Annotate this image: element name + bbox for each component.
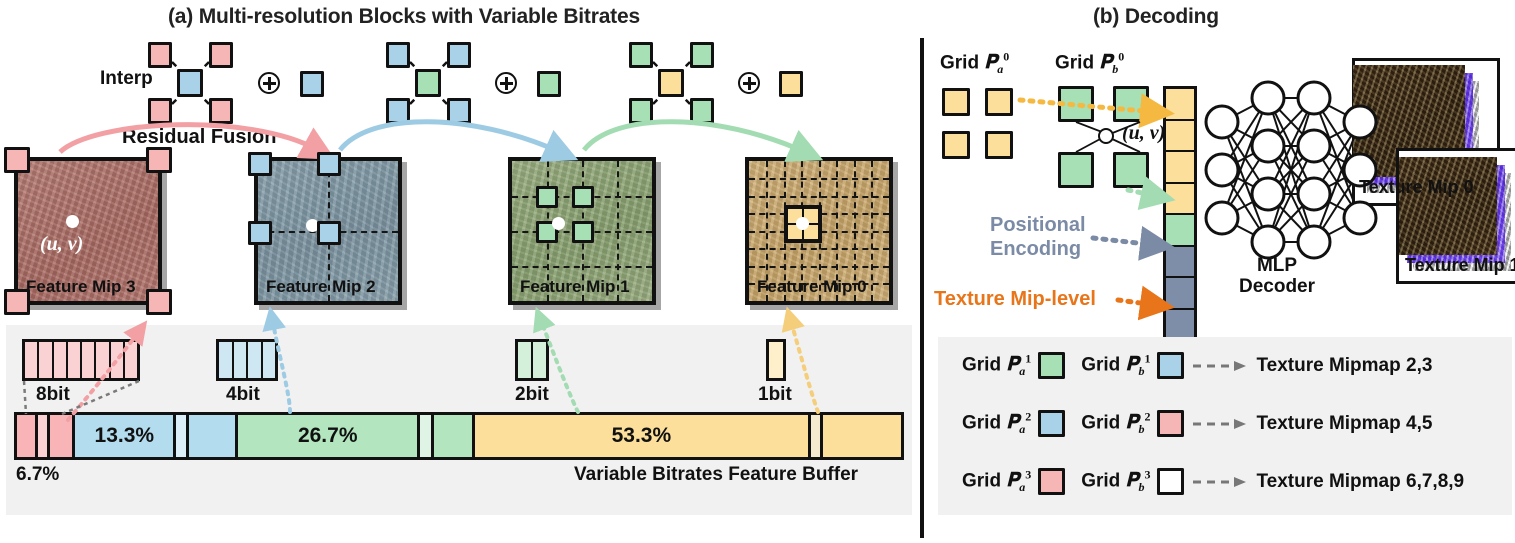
mlp-edge: [1268, 98, 1314, 146]
buffer-segment: [38, 415, 50, 457]
texture-card-label: Texture Mip 0: [1359, 177, 1474, 198]
legend-row: Grid 𝐏a3 Grid 𝐏b3 Texture Mipmap 6,7,8,9: [962, 468, 1464, 495]
interp-center: [177, 69, 203, 97]
mlp-edge: [1222, 146, 1268, 218]
interp-addend: [779, 71, 803, 97]
uv-sample-point: [1098, 128, 1114, 144]
mlp-node: [1252, 82, 1284, 114]
texture-mip-level-label: Texture Mip-level: [934, 288, 1096, 311]
mlp-node: [1252, 178, 1284, 210]
buffer-first-pct-label: 6.7%: [16, 464, 59, 486]
bit-label-1bit: 1bit: [758, 384, 792, 406]
legend-swatch-a: [1038, 410, 1065, 437]
legend-grid-a-label: Grid 𝐏a3: [962, 468, 1031, 495]
uv-dot: [66, 215, 79, 228]
buffer-segment: [811, 415, 823, 457]
variable-bitrates-buffer-bar: 13.3%26.7%53.3%: [14, 412, 904, 460]
buffer-segment: [434, 415, 474, 457]
mip1-node-tl: [536, 186, 558, 208]
grid-symbol: 𝐏b0: [1099, 52, 1124, 73]
panel-b-title: (b) Decoding: [1093, 5, 1219, 29]
interp-corner-br: [690, 98, 714, 124]
mlp-node: [1206, 202, 1238, 234]
mip3-corner-bl: [4, 289, 30, 315]
uv-label: (u, v): [40, 233, 83, 256]
mip-gridline: [749, 266, 889, 268]
mlp-edge: [1268, 146, 1314, 194]
mlp-edge: [1268, 98, 1314, 146]
interp-corner-tl: [148, 42, 172, 68]
panel-divider: [920, 38, 924, 538]
uv-dot: [796, 217, 809, 230]
mlp-edge: [1222, 122, 1268, 146]
positional-encoding-label: Positional Encoding: [990, 214, 1086, 261]
mlp-line1: MLP: [1222, 255, 1332, 276]
bit-group-4bit: [216, 339, 278, 381]
residual-fusion-label: Residual Fusion: [122, 126, 276, 149]
feature-vector-cell: [1166, 184, 1194, 216]
mlp-node: [1252, 226, 1284, 258]
mip1-node-tr: [572, 186, 594, 208]
grid-b-cell: [1058, 152, 1094, 188]
grid-zb0-label: Grid 𝐏b0: [1055, 50, 1124, 77]
feature-vector-cell: [1166, 152, 1194, 184]
interp-corner-bl: [148, 98, 172, 124]
uv-dot: [552, 217, 565, 230]
mlp-edge: [1268, 146, 1314, 242]
bit-label-8bit: 8bit: [36, 384, 70, 406]
grid-a-cell: [942, 131, 970, 159]
mlp-edge: [1222, 218, 1268, 242]
texture-albedo-layer: [1399, 157, 1497, 255]
legend-row: Grid 𝐏a1 Grid 𝐏b1 Texture Mipmap 2,3: [962, 352, 1432, 379]
mip-label: Feature Mip 1: [520, 277, 630, 297]
mip-gridline: [512, 266, 652, 268]
grid-b-cell: [1113, 86, 1149, 122]
legend-swatch-a: [1038, 468, 1065, 495]
interp-corner-br: [447, 98, 471, 124]
bit-group-8bit: [22, 339, 140, 381]
mlp-edge: [1222, 194, 1268, 218]
legend-swatch-b: [1157, 468, 1184, 495]
mlp-line2: Decoder: [1222, 276, 1332, 297]
mip2-node-tl: [248, 152, 272, 176]
legend-grid-b-label: Grid 𝐏b2: [1081, 410, 1150, 437]
mlp-edge: [1268, 146, 1314, 242]
mlp-edge: [1222, 98, 1268, 218]
grid-za0-label: Grid 𝐏a0: [940, 50, 1009, 77]
mlp-edge: [1268, 194, 1314, 242]
plus-icon: [738, 72, 760, 94]
legend-swatch-b: [1157, 352, 1184, 379]
buffer-caption: Variable Bitrates Feature Buffer: [574, 464, 858, 486]
mlp-edge: [1268, 98, 1314, 194]
plus-icon: [495, 72, 517, 94]
mlp-node: [1298, 82, 1330, 114]
interp-center: [658, 69, 684, 97]
interp-corner-bl: [386, 98, 410, 124]
mlp-node: [1206, 106, 1238, 138]
plus-icon: [258, 72, 280, 94]
mlp-node: [1252, 130, 1284, 162]
buffer-segment-labeled: 53.3%: [475, 415, 812, 457]
grid-label-text: Grid: [1055, 52, 1094, 73]
legend-grid-b-label: Grid 𝐏b1: [1081, 352, 1150, 379]
interp-center: [415, 69, 441, 97]
texture-card-mip1: Texture Mip 1: [1396, 148, 1515, 284]
grid-label-text: Grid: [940, 52, 979, 73]
legend-swatch-a: [1038, 352, 1065, 379]
mip1-node-br: [572, 221, 594, 243]
mlp-node: [1344, 202, 1376, 234]
grid-b-cell: [1058, 86, 1094, 122]
mlp-node: [1298, 226, 1330, 258]
mip2-node-bl: [248, 221, 272, 245]
feature-mip-0: Feature Mip 0: [745, 157, 893, 305]
feature-mip-1: Feature Mip 1: [508, 157, 656, 305]
feature-vector-cell: [1166, 247, 1194, 279]
bit-group-2bit: [515, 339, 549, 381]
bit-group-1bit: [766, 339, 786, 381]
bit-label-2bit: 2bit: [515, 384, 549, 406]
legend-target-label: Texture Mipmap 2,3: [1256, 355, 1432, 377]
interp-addend: [537, 71, 561, 97]
interp-corner-tr: [209, 42, 233, 68]
bit-label-4bit: 4bit: [226, 384, 260, 406]
interp-corner-tl: [629, 42, 653, 68]
mip3-corner-tl: [4, 147, 30, 173]
interp-corner-br: [209, 98, 233, 124]
feature-mip-3: (u, v) Feature Mip 3: [14, 157, 162, 305]
mip-label: Feature Mip 3: [26, 277, 136, 297]
grid-a-cell: [985, 88, 1013, 116]
mip3-corner-tr: [146, 147, 172, 173]
interp-addend: [300, 71, 324, 97]
feature-vector-cell: [1166, 278, 1194, 310]
mip-gridline: [749, 248, 889, 250]
buffer-segment: [50, 415, 75, 457]
mip3-corner-br: [146, 289, 172, 315]
mlp-edge: [1268, 146, 1314, 194]
mlp-edge: [1268, 98, 1314, 242]
mlp-edge: [1222, 122, 1268, 242]
feature-vector-cell: [1166, 215, 1194, 247]
mlp-node: [1298, 130, 1330, 162]
mlp-decoder-label: MLP Decoder: [1222, 255, 1332, 298]
legend-grid-a-label: Grid 𝐏a1: [962, 352, 1031, 379]
mip-label: Feature Mip 2: [266, 277, 376, 297]
grid-a-cell: [942, 88, 970, 116]
mip-label: Feature Mip 0: [757, 277, 867, 297]
panel-a-title: (a) Multi-resolution Blocks with Variabl…: [168, 5, 640, 29]
texture-card-label: Texture Mip 1: [1405, 255, 1515, 276]
mlp-edge: [1222, 170, 1268, 242]
feature-vector-cell: [1166, 89, 1194, 121]
mlp-edge: [1268, 194, 1314, 242]
pe-line1: Positional: [990, 214, 1086, 238]
interp-corner-tr: [447, 42, 471, 68]
mlp-node: [1206, 154, 1238, 186]
legend-grid-a-label: Grid 𝐏a2: [962, 410, 1031, 437]
mlp-edge: [1268, 98, 1314, 194]
feature-vector: [1163, 86, 1197, 374]
pe-line2: Encoding: [990, 238, 1086, 262]
dashed-arrow-icon: [1192, 359, 1248, 373]
legend-row: Grid 𝐏a2 Grid 𝐏b2 Texture Mipmap 4,5: [962, 410, 1432, 437]
interp-corner-tl: [386, 42, 410, 68]
buffer-segment-labeled: 13.3%: [75, 415, 176, 457]
buffer-segment: [420, 415, 434, 457]
grid-b-cell: [1113, 152, 1149, 188]
interp-corner-tr: [690, 42, 714, 68]
buffer-segment: [17, 415, 38, 457]
dashed-arrow-icon: [1192, 475, 1248, 489]
mlp-edge: [1222, 122, 1268, 194]
grid-symbol: 𝐏a0: [984, 52, 1009, 73]
mip2-node-br: [317, 221, 341, 245]
dashed-arrow-icon: [1192, 417, 1248, 431]
buffer-segment: [823, 415, 901, 457]
mlp-edge: [1314, 218, 1360, 242]
mlp-edge: [1222, 98, 1268, 170]
mip2-node-tr: [317, 152, 341, 176]
mlp-edge: [1222, 146, 1268, 170]
uv-label-panel-b: (u, v): [1122, 122, 1165, 145]
mlp-edge: [1222, 170, 1268, 194]
mlp-edge: [1222, 98, 1268, 122]
buffer-segment: [176, 415, 188, 457]
mlp-node: [1298, 178, 1330, 210]
interp-corner-bl: [629, 98, 653, 124]
buffer-segment: [189, 415, 239, 457]
feature-vector-cell: [1166, 121, 1194, 153]
mlp-edge: [1268, 98, 1314, 242]
grid-a-cell: [985, 131, 1013, 159]
mip-gridline: [749, 196, 889, 198]
figure-root: (a) Multi-resolution Blocks with Variabl…: [0, 0, 1515, 543]
legend-target-label: Texture Mipmap 6,7,8,9: [1256, 471, 1464, 493]
legend-grid-b-label: Grid 𝐏b3: [1081, 468, 1150, 495]
interp-label: Interp: [100, 68, 153, 90]
legend-target-label: Texture Mipmap 4,5: [1256, 413, 1432, 435]
mip-gridline: [749, 178, 889, 180]
buffer-segment-labeled: 26.7%: [238, 415, 420, 457]
legend-swatch-b: [1157, 410, 1184, 437]
